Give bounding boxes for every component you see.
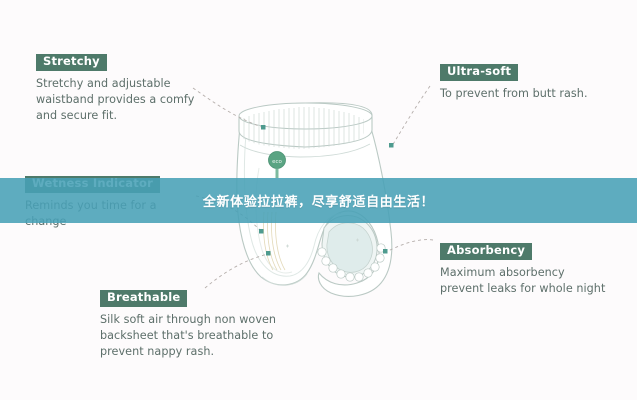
callout-absorbency-body: Maximum absorbency prevent leaks for who… — [440, 265, 610, 297]
svg-text:eco: eco — [272, 159, 282, 165]
crotch-seam — [262, 274, 307, 285]
callout-stretchy: Stretchy Stretchy and adjustable waistba… — [36, 50, 206, 125]
leg-opening — [322, 216, 377, 278]
diaper-waistband — [239, 103, 372, 147]
connector-ultrasoft — [392, 86, 430, 146]
callout-breathable-body: Silk soft air through non woven backshee… — [100, 312, 315, 361]
eco-badge: eco — [269, 152, 286, 179]
callout-ultra-soft-tag: Ultra-soft — [440, 64, 518, 82]
leg-opening-inner — [327, 223, 373, 273]
callout-ultra-soft-body: To prevent from butt rash. — [440, 86, 620, 102]
waistband-seam — [240, 144, 370, 157]
callout-breathable-tag: Breathable — [100, 290, 187, 308]
callout-absorbency-tag: Absorbency — [440, 243, 532, 261]
promo-banner-text: 全新体验拉拉裤，尽享舒适自由生活！ — [203, 191, 434, 210]
callout-stretchy-tag: Stretchy — [36, 54, 107, 72]
infographic-canvas: eco — [0, 0, 637, 400]
waistband-top-edge — [239, 103, 372, 129]
connector-breathable — [205, 254, 268, 288]
waistband-ribbing — [244, 107, 368, 150]
connector-absorbency — [386, 240, 433, 252]
leg-elastic-ruffle — [318, 244, 385, 281]
callout-breathable: Breathable Silk soft air through non wov… — [100, 286, 315, 361]
callout-absorbency: Absorbency Maximum absorbency prevent le… — [440, 239, 610, 297]
callout-ultra-soft: Ultra-soft To prevent from butt rash. — [440, 60, 620, 102]
promo-banner: 全新体验拉拉裤，尽享舒适自由生活！ — [0, 178, 637, 223]
callout-stretchy-body: Stretchy and adjustable waistband provid… — [36, 76, 206, 125]
